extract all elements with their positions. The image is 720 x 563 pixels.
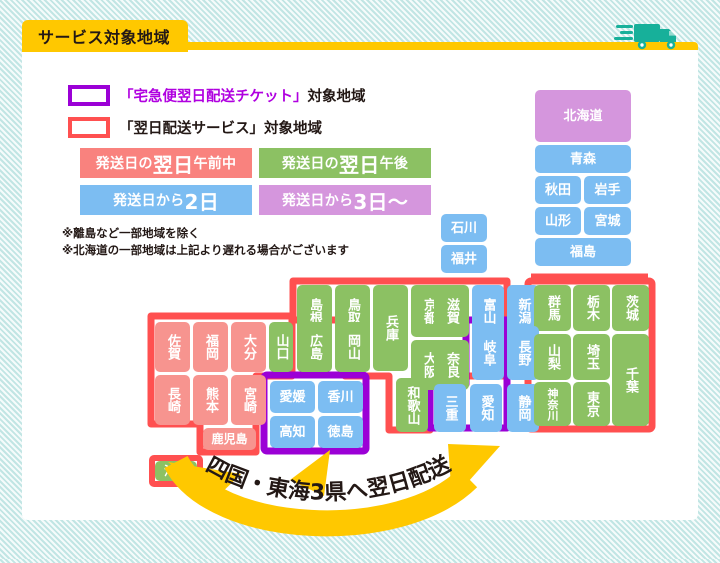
pref-kagoshima[interactable]: 鹿児島 [203, 428, 256, 450]
pref-ehime[interactable]: 愛媛 [270, 381, 315, 413]
pref-tokushima[interactable]: 徳島 [318, 416, 363, 448]
pref-chiba[interactable]: 千葉 [612, 334, 649, 426]
pref-miyagi[interactable]: 宮城 [584, 207, 631, 235]
pref-aomori[interactable]: 青森 [535, 145, 631, 173]
pref-miyazaki[interactable]: 宮崎 [231, 375, 266, 425]
pref-okayama[interactable]: 岡山 [335, 322, 370, 372]
region-outline-layer [0, 0, 720, 559]
pref-ishikawa[interactable]: 石川 [441, 214, 487, 242]
pref-hiroshima[interactable]: 広島 [297, 322, 332, 372]
pref-iwate[interactable]: 岩手 [584, 176, 631, 204]
pref-kumamoto[interactable]: 熊本 [193, 375, 228, 425]
pref-kanagawa[interactable]: 神奈川 [534, 382, 571, 426]
pref-oita[interactable]: 大分 [231, 322, 266, 372]
delivery-truck-icon [614, 16, 684, 54]
pref-yamagata[interactable]: 山形 [535, 207, 581, 235]
pref-okinawa[interactable]: 沖縄 [155, 461, 197, 481]
pref-shiga[interactable]: 滋賀 [434, 285, 469, 337]
pref-yamanashi[interactable]: 山梨 [534, 334, 571, 380]
pref-hokkaido[interactable]: 北海道 [535, 90, 631, 142]
pref-tochigi[interactable]: 栃木 [573, 285, 610, 331]
pref-nagasaki[interactable]: 長崎 [155, 375, 190, 425]
pref-gifu[interactable]: 岐阜 [472, 326, 504, 380]
pref-yamaguchi[interactable]: 山口 [269, 322, 293, 372]
pref-saga[interactable]: 佐賀 [155, 322, 190, 372]
pref-tokyo[interactable]: 東京 [573, 382, 610, 426]
pref-fukui[interactable]: 福井 [441, 245, 487, 273]
page-title: サービス対象地域 [38, 24, 170, 48]
pref-kagawa[interactable]: 香川 [318, 381, 363, 413]
pref-nara[interactable]: 奈良 [434, 340, 469, 390]
pref-saitama[interactable]: 埼玉 [573, 334, 610, 380]
pref-fukuoka[interactable]: 福岡 [193, 322, 228, 372]
pref-ibaraki[interactable]: 茨城 [612, 285, 649, 331]
pref-aichi[interactable]: 愛知 [470, 384, 502, 432]
japan-prefecture-map: 北海道 青森 秋田 岩手 山形 宮城 福島 石川 福井 島根 鳥取 兵庫 京都 … [0, 0, 720, 559]
pref-wakayama[interactable]: 和歌山 [396, 378, 428, 432]
pref-gunma[interactable]: 群馬 [534, 285, 571, 331]
pref-mie[interactable]: 三重 [434, 384, 466, 432]
title-tab: サービス対象地域 [22, 20, 188, 52]
pref-fukushima[interactable]: 福島 [535, 238, 631, 266]
pref-kochi[interactable]: 高知 [270, 416, 315, 448]
pref-akita[interactable]: 秋田 [535, 176, 581, 204]
pref-hyogo[interactable]: 兵庫 [373, 285, 408, 371]
